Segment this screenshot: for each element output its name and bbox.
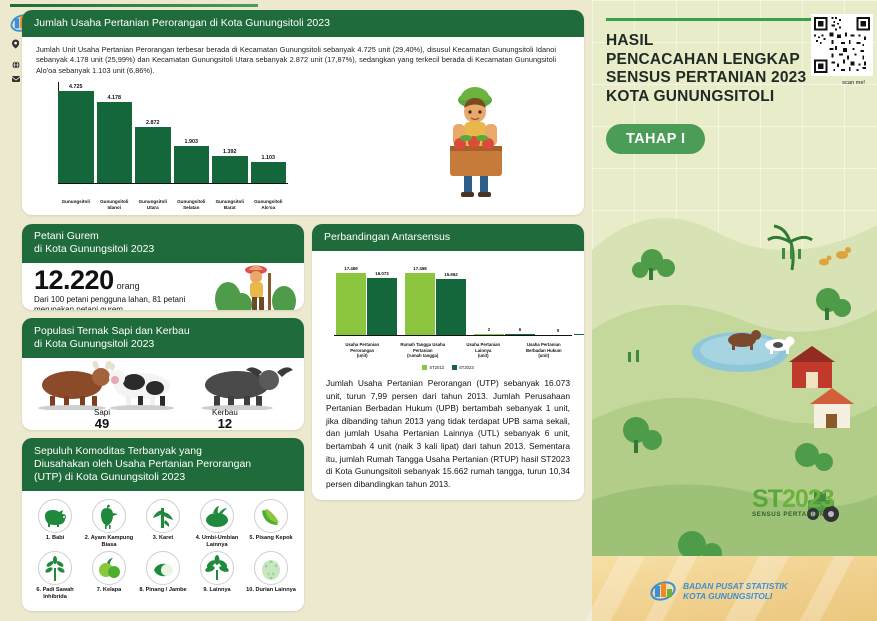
chart2-bar-value: 17.468 [413, 266, 426, 271]
komoditas-icon-circle [254, 551, 288, 585]
st-logo-main: ST [752, 485, 782, 513]
card-komoditas-title-line-2: Diusahakan oleh Usaha Pertanian Perorang… [34, 458, 292, 471]
chart1-bar-value: 1.103 [262, 155, 276, 161]
chart1-x-label: GunungsitoliBarat [212, 199, 248, 211]
legend-swatch [422, 365, 427, 370]
chart2-x-label: Usaha PertanianPerorangan(unit) [336, 342, 389, 359]
komoditas-item: 3. Karet [136, 499, 190, 549]
chart2-bar-group: 17.46916.073 [336, 263, 397, 335]
chart2-bar-group: 01 [543, 263, 584, 335]
gurem-note: Dari 100 petani pengguna lahan, 81 petan… [34, 295, 214, 310]
komoditas-label: 2. Ayam Kampung Biasa [84, 535, 134, 549]
gurem-unit: orang [117, 281, 140, 291]
animal-stat-kerbau: Kerbau 12 ekor [212, 408, 238, 430]
legend-label: ST2023 [459, 365, 474, 370]
card-ternak-title: Populasi Ternak Sapi dan Kerbau di Kota … [22, 318, 304, 358]
chart2-x-label: Usaha PertanianBerbadan Hukum(unit) [518, 342, 571, 359]
komoditas-label: 6. Padi Sawah Inhibrida [30, 587, 80, 601]
chart2-bar-value: 15.662 [444, 272, 457, 277]
chart1-bar-column: 2.872 [135, 83, 171, 183]
komoditas-icon-circle [200, 499, 234, 533]
chart1-x-label: GunungsitoliUtara [135, 199, 171, 211]
komoditas-label: 1. Babi [30, 535, 80, 542]
chart2-bar-value: 16.073 [375, 271, 388, 276]
st-logo-text: ST2023 [752, 487, 872, 511]
card-banding-title: Perbandingan Antarsensus [312, 224, 584, 251]
chart2-x-axis [334, 335, 572, 336]
komoditas-item: 8. Pinang / Jambe [136, 551, 190, 601]
chart1-x-labels: GunungsitoliGunungsitoliIdanoiGunungsito… [58, 199, 286, 211]
komoditas-item: 6. Padi Sawah Inhibrida [28, 551, 82, 601]
brown-cow-icon [38, 361, 112, 410]
sapi-count: 49 [94, 417, 110, 430]
animal-stat-sapi: Sapi 49 ekor [94, 408, 110, 430]
chart1-bar-column: 4.178 [97, 83, 133, 183]
infographic-page: HASIL PENCACAHAN LENGKAP SENSUS PERTANIA… [0, 0, 877, 621]
footer-bps-brand: BADAN PUSAT STATISTIK KOTA GUNUNGSITOLI [650, 580, 788, 602]
tuber-icon [203, 502, 231, 530]
komoditas-icon-circle [146, 499, 180, 533]
chart1-bar [135, 127, 171, 183]
komoditas-item: 2. Ayam Kampung Biasa [82, 499, 136, 549]
chart1-bar-value: 2.872 [146, 120, 160, 126]
komoditas-label: 5. Pisang Kepok [246, 535, 296, 542]
card-sepuluh-komoditas: Sepuluh Komoditas Terbanyak yang Diusaha… [22, 438, 304, 611]
komoditas-icon-circle [38, 551, 72, 585]
location-pin-icon [12, 39, 19, 49]
chart1-bar [58, 91, 94, 183]
sitting-farmer-illustration [212, 259, 298, 310]
footer-brand-line-1: BADAN PUSAT STATISTIK [683, 581, 788, 591]
st-logo-subtitle: SENSUS PERTANIAN [752, 511, 872, 518]
chart2-bar-value: 17.469 [344, 266, 357, 271]
antarsensus-narrative: Jumlah Usaha Pertanian Perorangan (UTP) … [312, 365, 584, 490]
chart1-bar-value: 1.903 [185, 139, 199, 145]
globe-icon [12, 60, 20, 70]
chart1-bar [212, 156, 248, 183]
right-illustration-panel: HASIL PENCACAHAN LENGKAP SENSUS PERTANIA… [592, 0, 877, 621]
komoditas-icon-circle [200, 551, 234, 585]
card-gurem-body: 12.220orang Dari 100 petani pengguna lah… [22, 263, 304, 310]
komoditas-label: 3. Karet [138, 535, 188, 542]
coconut-icon [95, 554, 123, 582]
chart1-bar-column: 1.103 [251, 83, 287, 183]
antarsensus-bar-chart: 17.46916.07317.46815.6622601 Usaha Perta… [320, 257, 576, 365]
card-populasi-ternak: Populasi Ternak Sapi dan Kerbau di Kota … [22, 318, 304, 430]
chart2-x-label: Rumah Tangga UsahaPertanian(rumah tangga… [397, 342, 450, 359]
legend-label: ST2013 [429, 365, 444, 370]
st-logo-year: 2023 [782, 485, 834, 513]
chart1-bar-value: 4.725 [69, 84, 83, 90]
card-gurem-title: Petani Gurem di Kota Gunungsitoli 2023 [22, 224, 304, 263]
chart2-x-label: Usaha PertanianLainnya(unit) [457, 342, 510, 359]
sand-stripe [800, 556, 855, 621]
chicken-icon [95, 502, 123, 530]
chart1-bar-value: 4.178 [108, 95, 122, 101]
chart2-bar: 1 [574, 334, 584, 335]
st2023-logo: ST2023 SENSUS PERTANIAN [752, 487, 872, 518]
mail-icon [12, 74, 20, 84]
komoditas-icon-circle [92, 499, 126, 533]
komoditas-item: 7. Kelapa [82, 551, 136, 601]
chart2-x-labels: Usaha PertanianPerorangan(unit)Rumah Tan… [336, 342, 570, 359]
chart1-bars: 4.7254.1782.8721.9031.3921.103 [58, 83, 286, 183]
card-perbandingan-antarsensus: Perbandingan Antarsensus 17.46916.07317.… [312, 224, 584, 500]
legend-swatch [452, 365, 457, 370]
footer-brand-line-2: KOTA GUNUNGSITOLI [683, 591, 788, 601]
utp-bar-chart: 4.7254.1782.8721.9031.3921.103 Gunungsit… [36, 82, 286, 197]
komoditas-icon-circle [38, 499, 72, 533]
durian-icon [257, 554, 285, 582]
komoditas-item: 10. Durian Lainnya [244, 551, 298, 601]
card-utp-bar-chart: Jumlah Usaha Pertanian Perorangan di Kot… [22, 10, 584, 215]
chart2-legend-item: ST2023 [452, 365, 474, 370]
card-petani-gurem: Petani Gurem di Kota Gunungsitoli 2023 1… [22, 224, 304, 310]
card-komoditas-title-line-3: (UTP) di Kota Gunungsitoli 2023 [34, 471, 292, 484]
komoditas-item: 9. Lainnya [190, 551, 244, 601]
stage-badge: TAHAP I [606, 124, 705, 154]
holstein-cow-icon [109, 363, 174, 410]
card-ternak-title-line-2: di Kota Gunungsitoli 2023 [34, 338, 292, 351]
rice-icon [41, 554, 69, 582]
card-ternak-title-line-1: Populasi Ternak Sapi dan Kerbau [34, 325, 292, 338]
chart2-bar-group: 26 [474, 263, 535, 335]
card-komoditas-title: Sepuluh Komoditas Terbanyak yang Diusaha… [22, 438, 304, 491]
chart1-x-label: GunungsitoliAlo'oa [251, 199, 287, 211]
chart1-bar-value: 1.392 [223, 149, 237, 155]
komoditas-icon-circle [146, 551, 180, 585]
chart1-bar-column: 1.903 [174, 83, 210, 183]
chart2-bar: 17.468 [405, 273, 435, 335]
buffalo-icon [201, 367, 293, 410]
chart2-legend: ST2013ST2023 [320, 365, 576, 370]
qr-caption: scan me! [842, 80, 865, 86]
chart2-bar-value: 2 [488, 327, 490, 332]
gurem-value: 12.220 [34, 267, 114, 294]
cattle-illustration [22, 360, 304, 410]
chart1-x-label: GunungsitoliIdanoi [97, 199, 133, 211]
pig-icon [41, 502, 69, 530]
sand-stripe [585, 556, 646, 621]
title-line-4: KOTA GUNUNGSITOLI [606, 88, 871, 107]
komoditas-item: 4. Umbi-Umbian Lainnya [190, 499, 244, 549]
komoditas-label: 9. Lainnya [192, 587, 242, 594]
chart1-bar [174, 146, 210, 183]
komoditas-label: 10. Durian Lainnya [246, 587, 296, 594]
areca-nut-icon [149, 554, 177, 582]
komoditas-icon-circle [92, 551, 126, 585]
komoditas-label: 4. Umbi-Umbian Lainnya [192, 535, 242, 549]
farmer-illustration [420, 72, 530, 197]
chart2-bar: 16.073 [367, 278, 397, 335]
kerbau-count: 12 [212, 417, 238, 430]
bps-logo-icon [650, 580, 676, 602]
chart2-bar-value: 6 [519, 327, 521, 332]
card-ternak-body: Sapi 49 ekor Kerbau 12 ekor [22, 358, 304, 429]
rubber-tree-icon [149, 502, 177, 530]
chart1-bar [97, 102, 133, 183]
banana-icon [257, 502, 285, 530]
chart1-bar-column: 4.725 [58, 83, 94, 183]
chart1-bar [251, 162, 287, 183]
chart2-bar: 15.662 [436, 279, 466, 335]
chart2-bar-group: 17.46815.662 [405, 263, 466, 335]
footer-bps-text: BADAN PUSAT STATISTIK KOTA GUNUNGSITOLI [683, 581, 788, 601]
chart1-x-label: Gunungsitoli [58, 199, 94, 211]
card-gurem-title-line-2: di Kota Gunungsitoli 2023 [34, 243, 292, 256]
card-gurem-title-line-1: Petani Gurem [34, 230, 292, 243]
chart2-bar: 17.469 [336, 273, 366, 335]
chart2-bars: 17.46916.07317.46815.6622601 [336, 263, 570, 335]
komoditas-item: 1. Babi [28, 499, 82, 549]
chart1-x-label: GunungsitoliSelatan [174, 199, 210, 211]
chart1-bar-column: 1.392 [212, 83, 248, 183]
chart1-x-axis [58, 183, 288, 184]
komoditas-icon-circle [254, 499, 288, 533]
komoditas-item: 5. Pisang Kepok [244, 499, 298, 549]
qr-code[interactable] [811, 14, 873, 76]
komoditas-label: 7. Kelapa [84, 587, 134, 594]
chart2-bar-value: 0 [557, 328, 559, 333]
komoditas-label: 8. Pinang / Jambe [138, 587, 188, 594]
komoditas-grid: 1. Babi2. Ayam Kampung Biasa3. Karet4. U… [22, 491, 304, 601]
chart2-legend-item: ST2013 [422, 365, 444, 370]
card-utp-title: Jumlah Usaha Pertanian Perorangan di Kot… [22, 10, 584, 37]
card-komoditas-title-line-1: Sepuluh Komoditas Terbanyak yang [34, 445, 292, 458]
qr-code-image [814, 17, 870, 73]
tree-icon [203, 554, 231, 582]
